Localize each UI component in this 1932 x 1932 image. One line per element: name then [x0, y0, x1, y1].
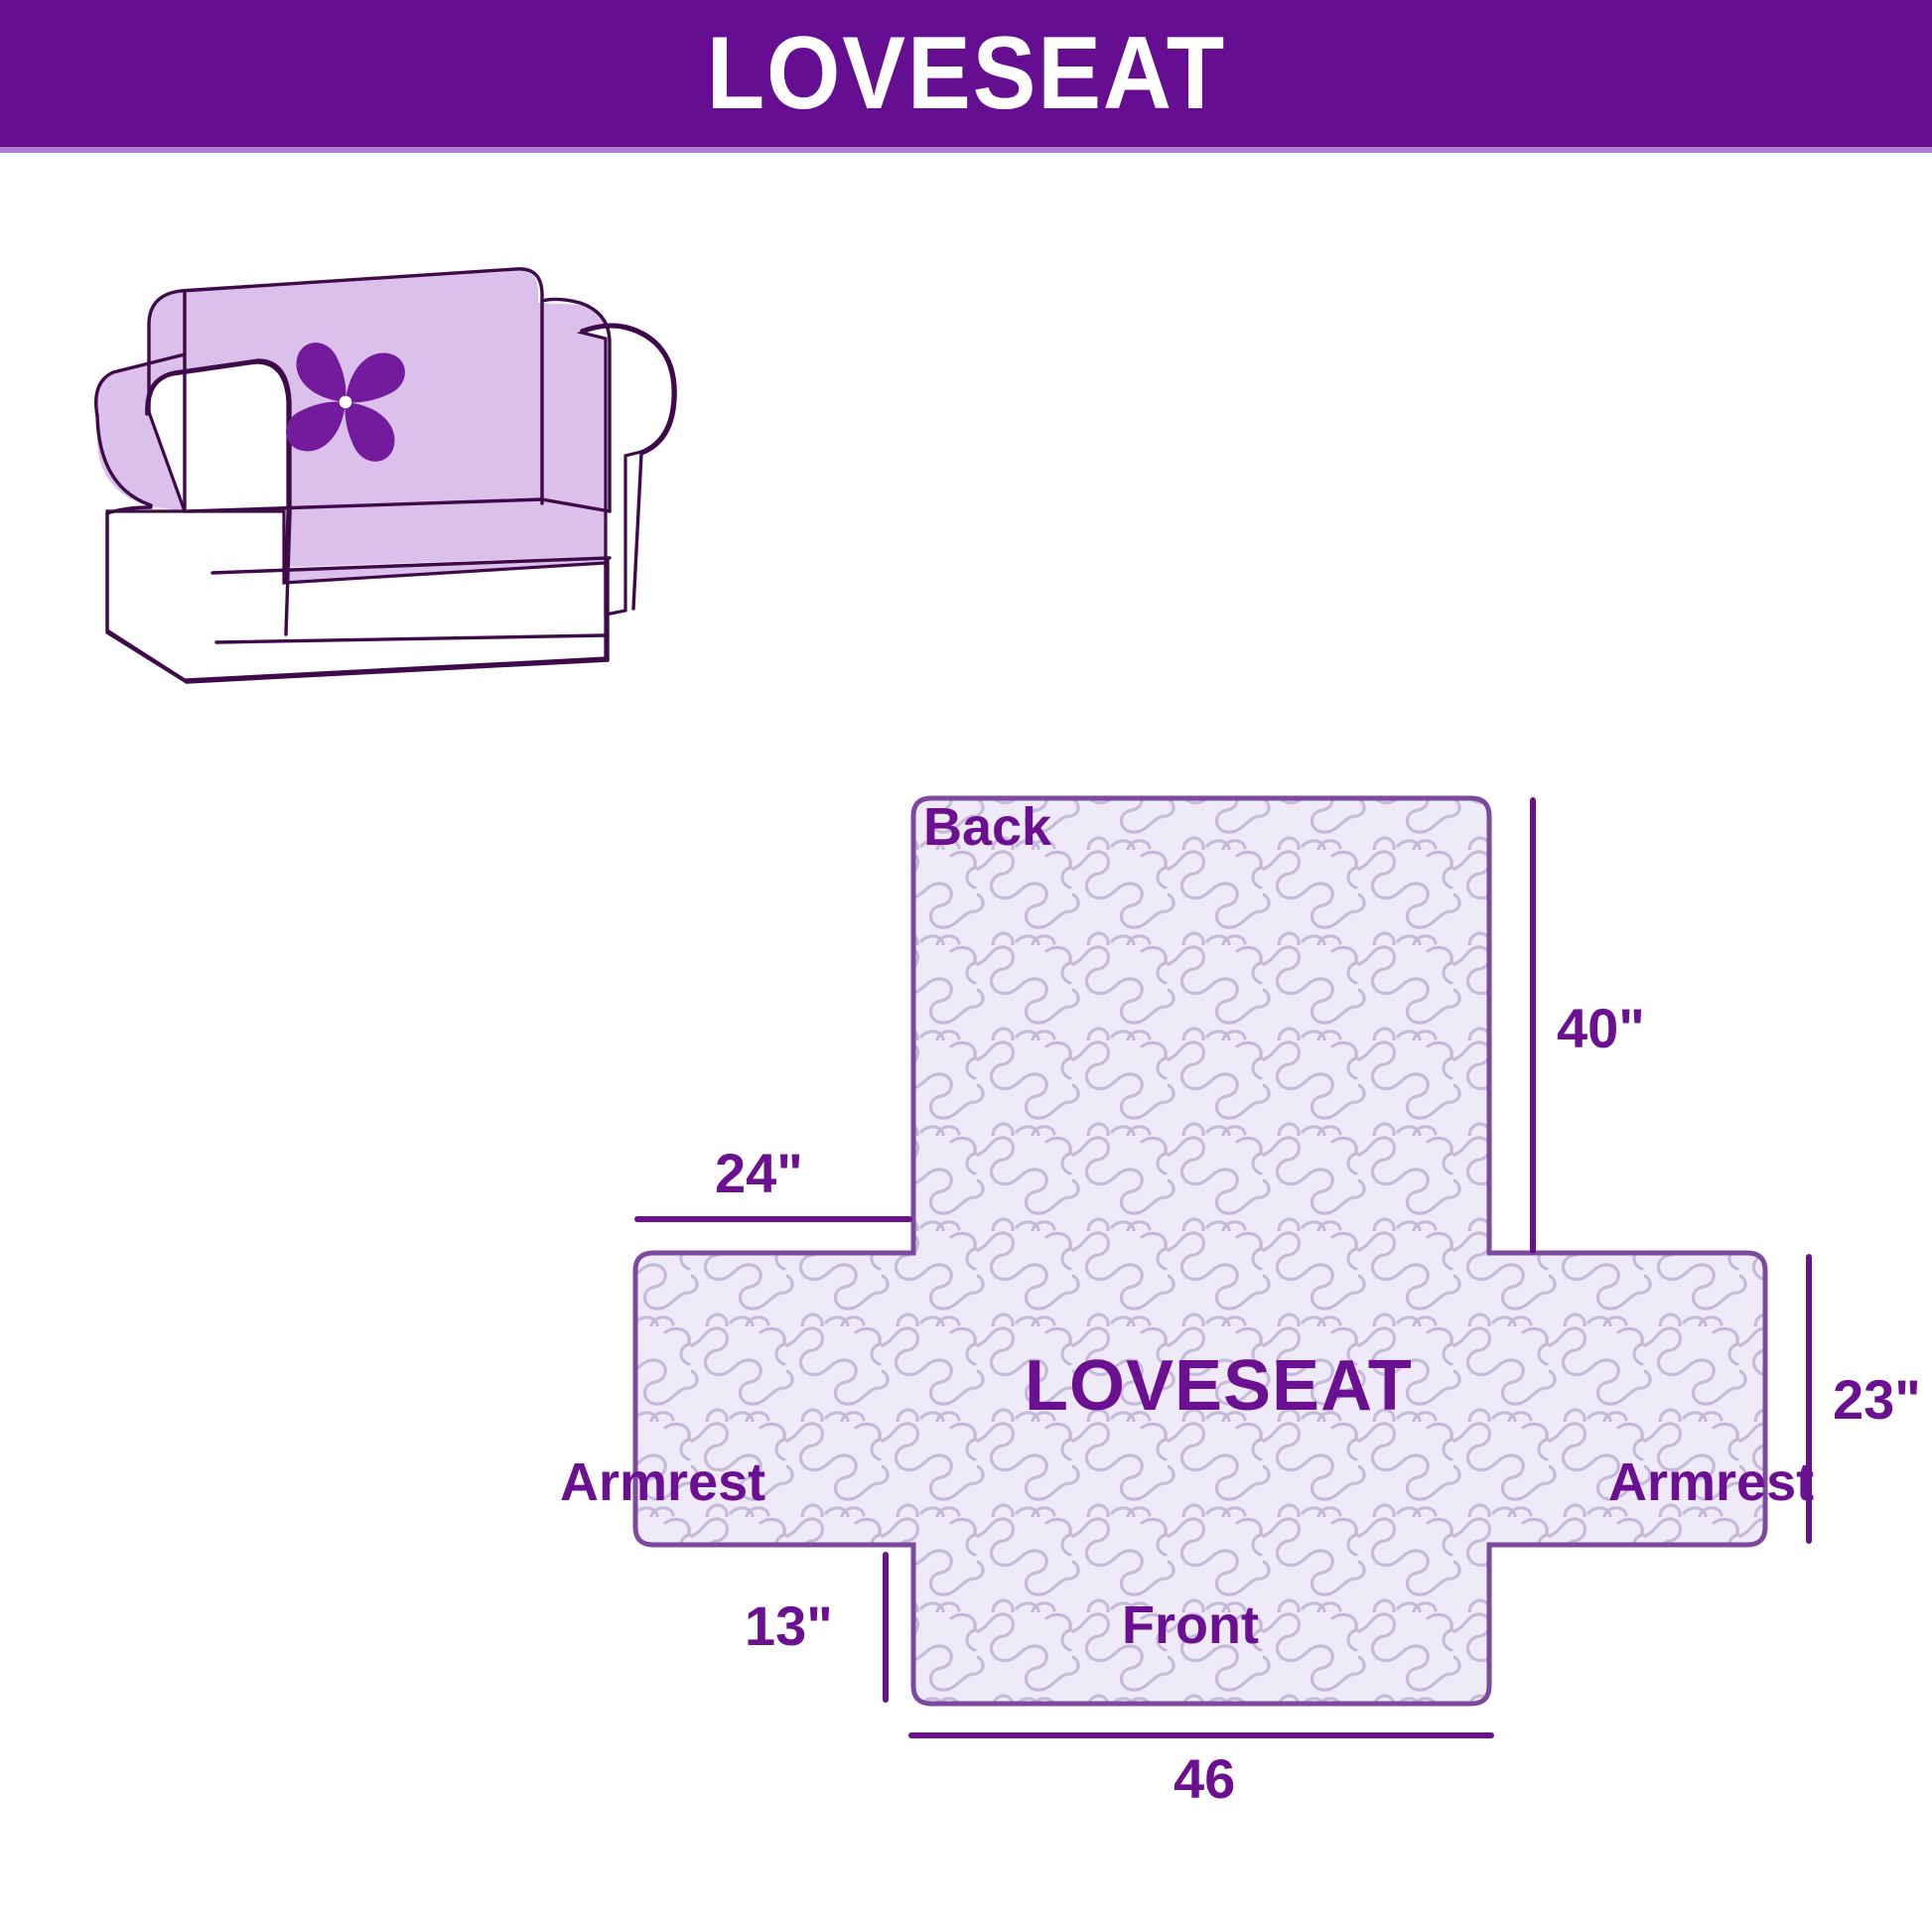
panel-label-front: Front	[1122, 1598, 1259, 1652]
page-title: LOVESEAT	[706, 22, 1225, 125]
loveseat-dimension-infographic: LOVESEAT	[0, 0, 1932, 1932]
header-banner: LOVESEAT	[0, 0, 1932, 147]
panel-label-armrest-left: Armrest	[560, 1455, 765, 1509]
header-underline-divider	[0, 147, 1932, 153]
panel-label-armrest-right: Armrest	[1608, 1455, 1814, 1509]
cover-pattern-diagram: Back Armrest Armrest Front LOVESEAT 40" …	[596, 755, 1916, 1827]
center-label-loveseat: LOVESEAT	[1025, 1350, 1413, 1422]
panel-label-back: Back	[923, 800, 1051, 854]
dimension-label-13: 13"	[745, 1598, 833, 1654]
loveseat-illustration	[89, 213, 983, 710]
dimension-label-40: 40"	[1557, 1001, 1645, 1056]
dimension-label-23: 23"	[1833, 1372, 1921, 1428]
cover-cross-shape-fill	[596, 755, 1916, 1827]
dimension-label-24: 24"	[715, 1146, 803, 1201]
dimension-label-46: 46	[1173, 1751, 1235, 1807]
